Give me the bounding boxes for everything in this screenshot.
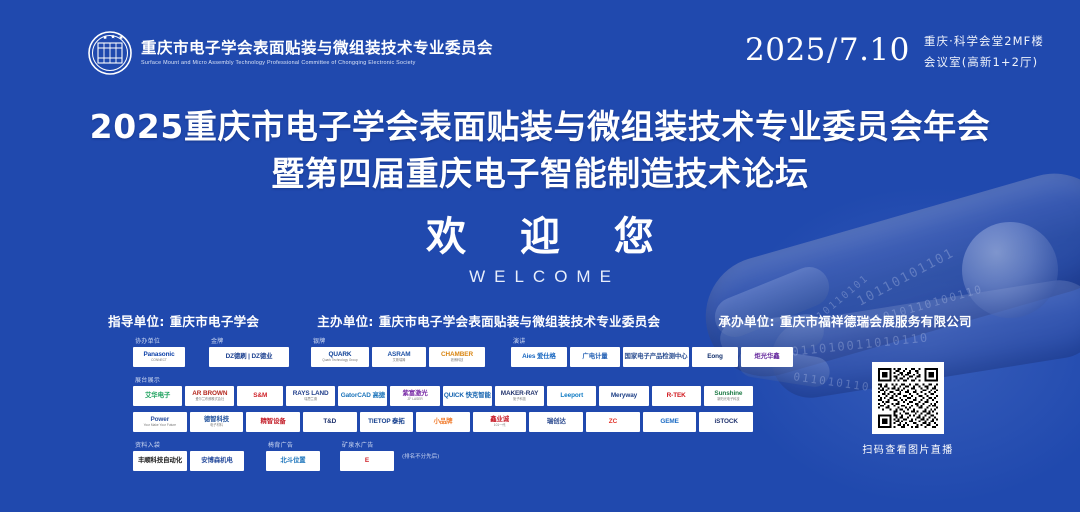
sponsor-group-label: 协办单位 bbox=[135, 336, 185, 345]
credit-host-value: 重庆市电子学会表面贴装与微组装技术专业委员会 bbox=[379, 314, 661, 329]
sponsor-group: 协办单位PanasonicCONNECT bbox=[133, 336, 185, 367]
sponsor-logo-subtitle: 新阳光电子科技 bbox=[714, 398, 742, 401]
event-title: 2025重庆市电子学会表面贴装与微组装技术专业委员会年会 暨第四届重庆电子智能制… bbox=[0, 104, 1080, 198]
sponsor-logo-name: 艾华电子 bbox=[145, 393, 170, 400]
sponsor-logo[interactable]: 广电计量 bbox=[570, 347, 620, 367]
sponsor-group-logos: PanasonicCONNECT bbox=[133, 347, 185, 367]
sponsor-group-label: 资料入袋 bbox=[135, 440, 244, 449]
sponsor-group-label: 金牌 bbox=[211, 336, 289, 345]
sponsor-logo[interactable]: 瑞创达 bbox=[529, 412, 583, 432]
sponsor-logo[interactable]: Sunshine新阳光电子科技 bbox=[704, 386, 753, 406]
welcome-block: 欢 迎 您 WELCOME bbox=[0, 213, 1080, 287]
sponsor-logo-name: ASRAM艾斯瑞姆 bbox=[388, 352, 411, 362]
credit-host: 主办单位:重庆市电子学会表面贴装与微组装技术专业委员会 bbox=[317, 311, 660, 330]
sponsor-logo-subtitle: 钱博科技 bbox=[441, 359, 473, 362]
sponsor-logo-name: 小品牌 bbox=[434, 419, 453, 426]
sponsor-logo-name: CHAMBER钱博科技 bbox=[441, 352, 473, 362]
event-date-venue: 2025/7.10 重庆·科学会堂2MF楼 会议室(高新1+2厅) bbox=[745, 30, 1044, 70]
sponsor-logo-name: DZ德刷 | DZ德业 bbox=[226, 354, 273, 361]
sponsor-group: 椅背广告北斗位置 bbox=[266, 440, 320, 471]
sponsor-logo-name: 北斗位置 bbox=[280, 458, 305, 465]
sponsor-group-booth-label: 展台展示 bbox=[135, 375, 753, 384]
sponsor-logo-name: S&M bbox=[253, 393, 267, 400]
sponsor-logo[interactable]: 德智科技电子材料 bbox=[190, 412, 244, 432]
sponsor-logo[interactable]: ZC bbox=[586, 412, 640, 432]
sponsor-logo[interactable]: 国家电子产品检测中心 bbox=[623, 347, 689, 367]
sponsor-logo-name: 鑫业诚101一代 bbox=[490, 417, 509, 427]
sponsor-group: 银牌QUARKQuark Technology GroupASRAM艾斯瑞姆CH… bbox=[311, 336, 485, 367]
credit-guidance-value: 重庆市电子学会 bbox=[170, 314, 260, 329]
sponsor-logo[interactable]: PanasonicCONNECT bbox=[133, 347, 185, 367]
sponsor-logo[interactable]: T&D bbox=[303, 412, 357, 432]
sponsor-logo-subtitle: 爱尔兰布朗株式会社 bbox=[192, 398, 227, 401]
venue-line-1: 重庆·科学会堂2MF楼 bbox=[924, 33, 1044, 49]
sponsor-logo[interactable]: 紫富激光ZF LASER bbox=[390, 386, 439, 406]
sponsor-logo-name: PanasonicCONNECT bbox=[143, 352, 174, 362]
sponsor-booth-logos-a: 艾华电子AR BROWN爱尔兰布朗株式会社S&MRAYS LAND瑞思兰德Gat… bbox=[133, 386, 753, 406]
sponsor-logo-name: T&D bbox=[323, 419, 336, 426]
society-name-cn: 重庆市电子学会表面贴装与微组装技术专业委员会 bbox=[141, 40, 493, 58]
sponsor-logo[interactable]: QUICK 快克智能 bbox=[443, 386, 492, 406]
sponsor-logo[interactable]: TIETOP 泰拓 bbox=[360, 412, 414, 432]
sponsor-group-logos: Aies 爱仕格广电计量国家电子产品检测中心Eong炬光华鑫 bbox=[511, 347, 793, 367]
sponsor-logo-name: GatorCAD 高捷 bbox=[341, 393, 385, 400]
sponsor-group-logos: E bbox=[340, 451, 394, 471]
conference-welcome-banner: 10110101101 011010110100110 101101001101… bbox=[0, 0, 1080, 512]
sponsor-logo-name: Meryway bbox=[611, 393, 637, 400]
credit-guidance-key: 指导单位: bbox=[108, 314, 165, 329]
event-date-separator: / bbox=[826, 32, 839, 68]
sponsor-logo-name: 丰顺科技自动化 bbox=[138, 458, 182, 465]
sponsor-logo[interactable]: R-TEK bbox=[652, 386, 701, 406]
sponsor-logo-name: TIETOP 泰拓 bbox=[368, 419, 405, 426]
welcome-text-cn: 欢 迎 您 bbox=[0, 213, 1080, 261]
sponsor-group-booth: 展台展示 艾华电子AR BROWN爱尔兰布朗株式会社S&MRAYS LAND瑞思… bbox=[133, 375, 753, 432]
sponsor-booth-logos-b: PowerYour Make Your Future德智科技电子材料精智设备T&… bbox=[133, 412, 753, 432]
sponsor-logo-name: ZC bbox=[609, 419, 617, 426]
event-title-line-1: 2025重庆市电子学会表面贴装与微组装技术专业委员会年会 bbox=[0, 104, 1080, 151]
sponsor-logo[interactable]: Eong bbox=[692, 347, 738, 367]
sponsor-logo[interactable]: 精智设备 bbox=[246, 412, 300, 432]
sponsor-logo-name: GEME bbox=[660, 419, 678, 426]
credit-organizer-key: 承办单位: bbox=[718, 314, 775, 329]
sponsor-logo-name: Eong bbox=[707, 354, 723, 361]
sponsor-logo[interactable]: PowerYour Make Your Future bbox=[133, 412, 187, 432]
sponsor-group-label: 椅背广告 bbox=[268, 440, 320, 449]
sponsor-logo-grid: 协办单位PanasonicCONNECT金牌DZ德刷 | DZ德业银牌QUARK… bbox=[133, 336, 753, 471]
sponsor-logo[interactable]: 北斗位置 bbox=[266, 451, 320, 471]
sponsor-logo-name: R-TEK bbox=[667, 393, 686, 400]
sponsor-group: 演讲Aies 爱仕格广电计量国家电子产品检测中心Eong炬光华鑫 bbox=[511, 336, 793, 367]
sponsor-logo-subtitle: ZF LASER bbox=[403, 398, 428, 401]
sponsor-logo-name: 安博森机电 bbox=[201, 458, 232, 465]
sponsor-logo-name: 瑞创达 bbox=[547, 419, 566, 426]
credit-guidance: 指导单位:重庆市电子学会 bbox=[108, 311, 259, 330]
sponsor-logo-subtitle: 电子材料 bbox=[204, 424, 229, 427]
sponsor-logo-name: Leeport bbox=[560, 393, 583, 400]
sponsor-group-label: 银牌 bbox=[313, 336, 485, 345]
sponsor-logo[interactable]: Aies 爱仕格 bbox=[511, 347, 567, 367]
sponsor-logo[interactable]: AR BROWN爱尔兰布朗株式会社 bbox=[185, 386, 234, 406]
sponsor-logo[interactable]: iSTOCK bbox=[699, 412, 753, 432]
event-date-year: 2025 bbox=[745, 32, 826, 68]
sponsor-logo[interactable]: 安博森机电 bbox=[190, 451, 244, 471]
society-name-en: Surface Mount and Micro Assembly Technol… bbox=[141, 60, 493, 66]
sponsor-group-logos: DZ德刷 | DZ德业 bbox=[209, 347, 289, 367]
credit-organizer: 承办单位:重庆市福祥德瑞会展服务有限公司 bbox=[718, 311, 972, 330]
binary-stream-3: 1011010011010110 bbox=[782, 330, 930, 359]
livestream-qr-block[interactable]: 扫码查看图片直播 bbox=[838, 362, 978, 456]
sponsor-logo-subtitle: 矩子科技 bbox=[501, 398, 539, 401]
sponsor-logo-name: E bbox=[365, 458, 369, 465]
sponsor-group-logos: QUARKQuark Technology GroupASRAM艾斯瑞姆CHAM… bbox=[311, 347, 485, 367]
banner-header: 重庆市电子学会表面贴装与微组装技术专业委员会 Surface Mount and… bbox=[0, 0, 1080, 92]
sponsor-logo-name: 德智科技电子材料 bbox=[204, 417, 229, 427]
sponsor-logo[interactable]: CHAMBER钱博科技 bbox=[429, 347, 485, 367]
sponsor-group-label: 矿泉水广告 bbox=[342, 440, 394, 449]
sponsor-logo[interactable]: 小品牌 bbox=[416, 412, 470, 432]
sponsor-logo-name: 炬光华鑫 bbox=[754, 354, 779, 361]
sponsor-group: 资料入袋丰顺科技自动化安博森机电 bbox=[133, 440, 244, 471]
sponsor-logo-subtitle: 瑞思兰德 bbox=[293, 398, 329, 401]
sponsor-logo-name: Aies 爱仕格 bbox=[522, 354, 556, 361]
sponsor-group: 金牌DZ德刷 | DZ德业 bbox=[209, 336, 289, 367]
credit-host-key: 主办单位: bbox=[317, 314, 374, 329]
sponsor-logo[interactable]: S&M bbox=[237, 386, 283, 406]
sponsor-logo[interactable]: ASRAM艾斯瑞姆 bbox=[372, 347, 426, 367]
event-title-line-2: 暨第四届重庆电子智能制造技术论坛 bbox=[0, 151, 1080, 198]
credit-organizer-value: 重庆市福祥德瑞会展服务有限公司 bbox=[780, 314, 972, 329]
sponsor-logo[interactable]: MAKER-RAY矩子科技 bbox=[495, 386, 544, 406]
qr-caption: 扫码查看图片直播 bbox=[838, 441, 978, 456]
event-date-day: 7.10 bbox=[839, 32, 910, 68]
sponsor-group-label: 演讲 bbox=[513, 336, 793, 345]
sponsor-logo[interactable]: RAYS LAND瑞思兰德 bbox=[286, 386, 335, 406]
sponsor-group-logos: 北斗位置 bbox=[266, 451, 320, 471]
sponsor-footnote: (排名不分先后) bbox=[402, 452, 439, 460]
sponsor-group: 矿泉水广告E bbox=[340, 440, 394, 471]
sponsor-logo[interactable]: Meryway bbox=[599, 386, 648, 406]
sponsor-logo-name: iSTOCK bbox=[715, 419, 738, 426]
sponsor-row-top: 协办单位PanasonicCONNECT金牌DZ德刷 | DZ德业银牌QUARK… bbox=[133, 336, 753, 367]
sponsor-logo[interactable]: 炬光华鑫 bbox=[741, 347, 793, 367]
venue-line-2: 会议室(高新1+2厅) bbox=[924, 54, 1044, 70]
sponsor-logo-name: QUICK 快克智能 bbox=[444, 393, 491, 400]
sponsor-logo-subtitle: 艾斯瑞姆 bbox=[388, 359, 411, 362]
sponsor-logo-name: 广电计量 bbox=[582, 354, 607, 361]
sponsor-logo-subtitle: Your Make Your Future bbox=[144, 424, 176, 427]
sponsor-logo[interactable]: 艾华电子 bbox=[133, 386, 182, 406]
sponsor-logo[interactable]: 丰顺科技自动化 bbox=[133, 451, 187, 471]
sponsor-logo-name: 国家电子产品检测中心 bbox=[625, 354, 688, 361]
sponsor-logo-name: 精智设备 bbox=[261, 419, 286, 426]
sponsor-logo[interactable]: Leeport bbox=[547, 386, 596, 406]
sponsor-logo-subtitle: 101一代 bbox=[490, 424, 509, 427]
sponsor-logo-name: 紫富激光ZF LASER bbox=[403, 391, 428, 401]
sponsor-logo-name: QUARKQuark Technology Group bbox=[322, 352, 357, 362]
society-seal-icon bbox=[88, 31, 132, 75]
organizer-credits: 指导单位:重庆市电子学会 主办单位:重庆市电子学会表面贴装与微组装技术专业委员会… bbox=[0, 311, 1080, 330]
sponsor-logo[interactable]: DZ德刷 | DZ德业 bbox=[209, 347, 289, 367]
sponsor-logo-name: RAYS LAND瑞思兰德 bbox=[293, 391, 329, 401]
sponsor-logo[interactable]: E bbox=[340, 451, 394, 471]
event-date: 2025/7.10 bbox=[745, 32, 910, 68]
sponsor-logo[interactable]: GEME bbox=[643, 412, 697, 432]
sponsor-logo-name: Sunshine新阳光电子科技 bbox=[714, 391, 742, 401]
sponsor-logo-name: PowerYour Make Your Future bbox=[144, 417, 176, 427]
society-logo: 重庆市电子学会表面贴装与微组装技术专业委员会 Surface Mount and… bbox=[88, 31, 493, 75]
qr-code-icon[interactable] bbox=[872, 362, 944, 434]
welcome-text-en: WELCOME bbox=[0, 267, 1080, 287]
sponsor-logo-subtitle: Quark Technology Group bbox=[322, 359, 357, 362]
sponsor-logo[interactable]: GatorCAD 高捷 bbox=[338, 386, 387, 406]
sponsor-group-logos: 丰顺科技自动化安博森机电 bbox=[133, 451, 244, 471]
sponsor-logo-name: MAKER-RAY矩子科技 bbox=[501, 391, 539, 401]
sponsor-logo[interactable]: 鑫业诚101一代 bbox=[473, 412, 527, 432]
sponsor-logo-name: AR BROWN爱尔兰布朗株式会社 bbox=[192, 391, 227, 401]
sponsor-row-bottom: 资料入袋丰顺科技自动化安博森机电椅背广告北斗位置矿泉水广告E(排名不分先后) bbox=[133, 440, 753, 471]
sponsor-logo-subtitle: CONNECT bbox=[143, 359, 174, 362]
sponsor-logo[interactable]: QUARKQuark Technology Group bbox=[311, 347, 369, 367]
event-venue: 重庆·科学会堂2MF楼 会议室(高新1+2厅) bbox=[924, 30, 1044, 70]
